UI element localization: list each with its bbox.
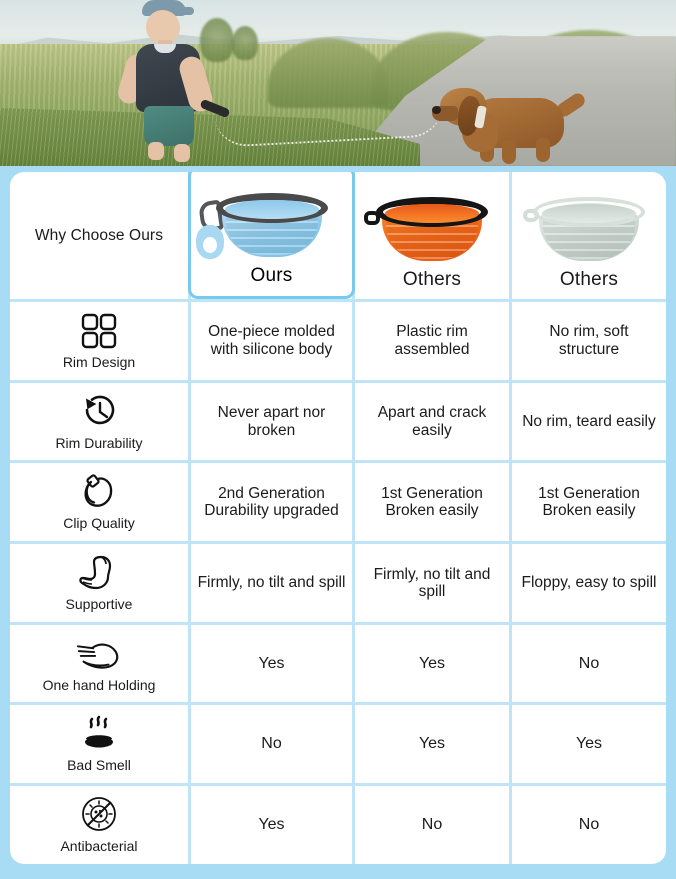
table-row: Bad Smell No Yes Yes bbox=[10, 702, 666, 783]
table-header-row: Why Choose Ours Others bbox=[10, 172, 666, 299]
header-cell-feature: Why Choose Ours bbox=[10, 172, 188, 299]
flexed-bicep-icon bbox=[75, 553, 123, 593]
feature-label: Supportive bbox=[66, 597, 133, 613]
feature-cell: Bad Smell bbox=[10, 705, 188, 783]
clock-history-icon bbox=[75, 392, 123, 432]
value-others-2: Yes bbox=[509, 705, 666, 783]
comparison-infographic: Why Choose Ours Others bbox=[0, 0, 676, 879]
leg bbox=[536, 138, 550, 162]
tree bbox=[232, 26, 258, 60]
table-row: Antibacterial Yes No No bbox=[10, 783, 666, 864]
dog bbox=[432, 76, 602, 162]
table-row: Clip Quality 2nd Generation Durability u… bbox=[10, 460, 666, 541]
feature-label: Clip Quality bbox=[63, 516, 135, 532]
value-others-1: No bbox=[352, 786, 509, 864]
feature-label: Rim Durability bbox=[55, 436, 142, 452]
value-others-2: No bbox=[509, 625, 666, 703]
header-cell-others-1: Others bbox=[352, 172, 509, 299]
feature-label: Antibacterial bbox=[60, 839, 137, 855]
clip-ring bbox=[196, 225, 224, 259]
column-label-others-2: Others bbox=[560, 269, 618, 290]
feature-cell: Supportive bbox=[10, 544, 188, 622]
hero-photo bbox=[0, 0, 676, 166]
steam-smell-icon bbox=[75, 714, 123, 754]
value-ours: No bbox=[188, 705, 352, 783]
shorts bbox=[144, 106, 194, 146]
four-rounded-squares-icon bbox=[75, 311, 123, 351]
value-others-2: No rim, teard easily bbox=[509, 383, 666, 461]
value-ours: One-piece molded with silicone body bbox=[188, 302, 352, 380]
orange-collapsible-bowl-icon bbox=[372, 195, 492, 267]
value-others-1: Apart and crack easily bbox=[352, 383, 509, 461]
feature-cell: Rim Durability bbox=[10, 383, 188, 461]
leg bbox=[502, 140, 516, 164]
column-label-others-1: Others bbox=[403, 269, 461, 290]
feature-label: Rim Design bbox=[63, 355, 135, 371]
value-ours: 2nd Generation Durability upgraded bbox=[188, 463, 352, 541]
leg bbox=[174, 144, 190, 162]
column-label-ours: Ours bbox=[251, 265, 293, 287]
value-others-1: 1st Generation Broken easily bbox=[352, 463, 509, 541]
table-row: Rim Durability Never apart nor broken Ap… bbox=[10, 380, 666, 461]
value-others-1: Plastic rim assembled bbox=[352, 302, 509, 380]
bowl-interior bbox=[542, 204, 636, 223]
value-others-2: 1st Generation Broken easily bbox=[509, 463, 666, 541]
antibacterial-germ-blocked-icon bbox=[75, 795, 123, 835]
value-ours: Yes bbox=[188, 786, 352, 864]
nose bbox=[432, 106, 441, 114]
boy bbox=[118, 0, 228, 158]
bowl-interior bbox=[225, 200, 319, 219]
feature-cell: Rim Design bbox=[10, 302, 188, 380]
page-title: Why Choose Ours bbox=[35, 227, 163, 244]
feature-cell: One hand Holding bbox=[10, 625, 188, 703]
blue-collapsible-bowl-icon bbox=[212, 191, 332, 263]
feature-cell: Antibacterial bbox=[10, 786, 188, 864]
table-row: One hand Holding Yes Yes No bbox=[10, 622, 666, 703]
value-ours: Never apart nor broken bbox=[188, 383, 352, 461]
value-ours: Firmly, no tilt and spill bbox=[188, 544, 352, 622]
value-ours: Yes bbox=[188, 625, 352, 703]
feature-cell: Clip Quality bbox=[10, 463, 188, 541]
value-others-2: No rim, soft structure bbox=[509, 302, 666, 380]
value-others-2: Floppy, easy to spill bbox=[509, 544, 666, 622]
header-cell-others-2: Others bbox=[509, 172, 666, 299]
open-hand-icon bbox=[75, 634, 123, 674]
leg bbox=[148, 142, 164, 160]
head bbox=[146, 10, 180, 44]
header-cell-ours-highlighted: Ours bbox=[188, 172, 355, 299]
table-row: Rim Design One-piece molded with silicon… bbox=[10, 299, 666, 380]
value-others-1: Yes bbox=[352, 705, 509, 783]
feature-label: One hand Holding bbox=[43, 678, 156, 694]
table-row: Supportive Firmly, no tilt and spill Fir… bbox=[10, 541, 666, 622]
grey-collapsible-bowl-icon bbox=[529, 195, 649, 267]
feature-label: Bad Smell bbox=[67, 758, 131, 774]
bowl-interior bbox=[385, 204, 479, 223]
value-others-1: Yes bbox=[352, 625, 509, 703]
comparison-table: Why Choose Ours Others bbox=[10, 172, 666, 864]
value-others-2: No bbox=[509, 786, 666, 864]
carabiner-clip-icon bbox=[75, 472, 123, 512]
value-others-1: Firmly, no tilt and spill bbox=[352, 544, 509, 622]
